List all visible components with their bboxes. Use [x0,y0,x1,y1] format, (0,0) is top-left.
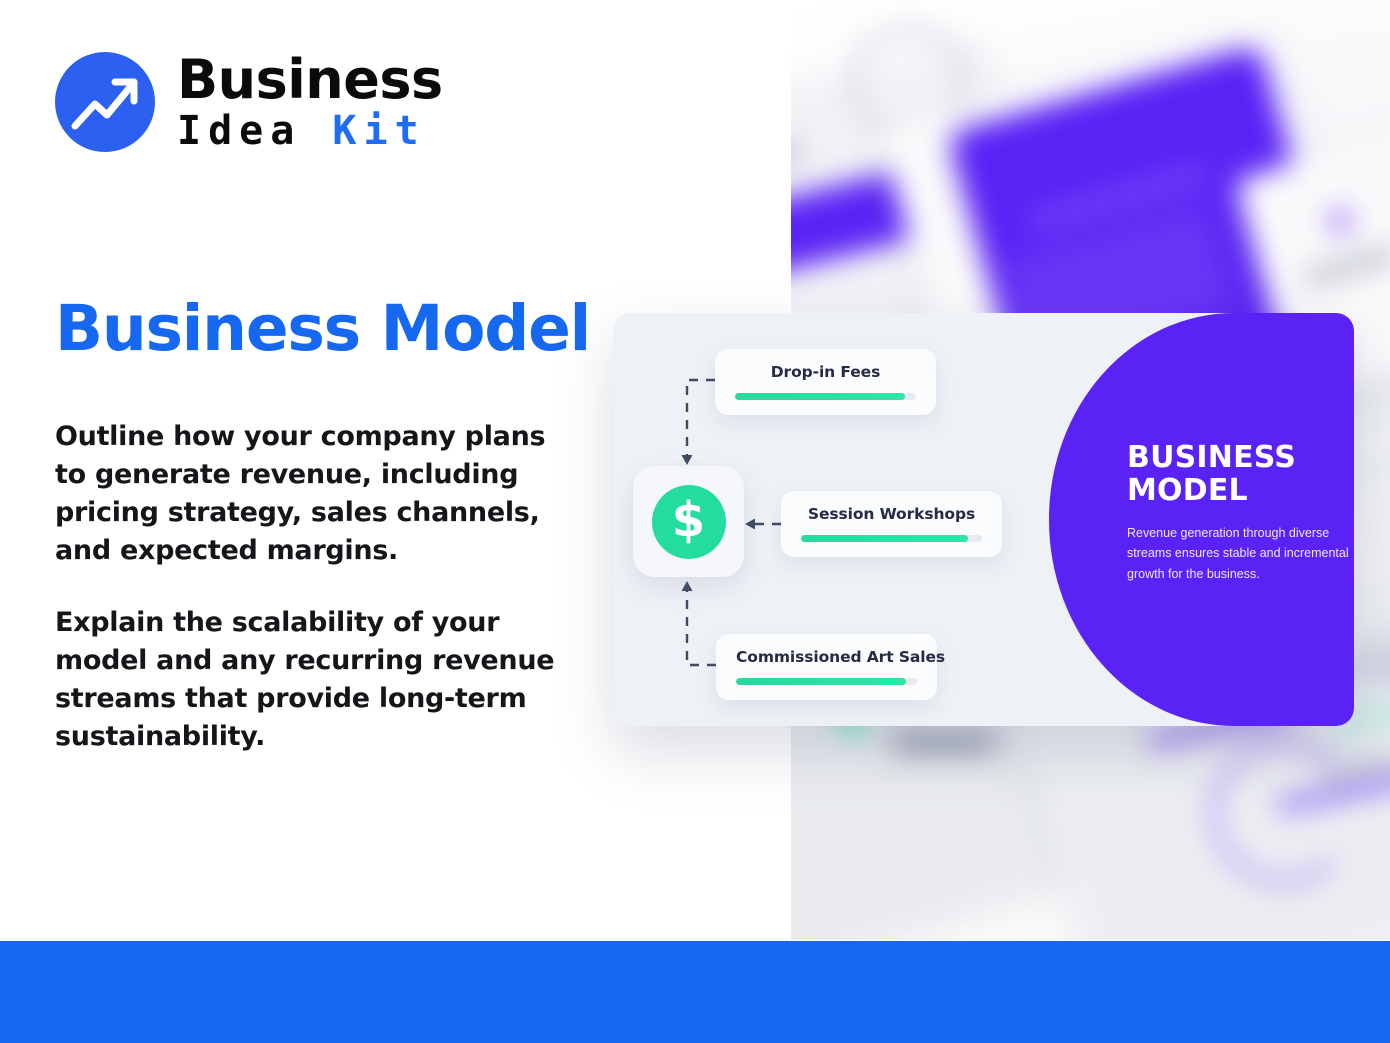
purple-panel: BUSINESS MODEL Revenue generation throug… [1049,313,1354,726]
footer-bar [0,941,1390,1043]
dollar-sign-icon: $ [652,485,726,559]
revenue-node[interactable]: Session Workshops [781,491,1002,557]
panel-description: Revenue generation through diverse strea… [1127,523,1354,584]
revenue-node-progress-track [736,678,917,685]
revenue-node-label: Commissioned Art Sales [736,648,917,666]
body-copy: Outline how your company plans to genera… [55,418,585,757]
page-title: Business Model [55,296,590,362]
revenue-node-progress-fill [736,678,906,685]
revenue-node[interactable]: Drop-in Fees [715,349,936,415]
bg-dot-mint-1 [1329,210,1351,232]
body-paragraph-2: Explain the scalability of your model an… [55,604,585,756]
revenue-node[interactable]: Commissioned Art Sales [716,634,937,700]
revenue-node-progress-track [735,393,916,400]
brand-name-line2: Idea Kit [177,111,443,151]
brand-logo: Business Idea Kit [55,52,443,152]
bg-grey-bar-3 [891,730,996,754]
brand-name-kit: Kit [332,108,425,154]
growth-arrow-icon [55,52,155,152]
revenue-node-progress-track [801,535,982,542]
slide-root: Business Idea Kit Business Model Outline… [0,0,1390,1043]
revenue-node-label: Drop-in Fees [735,363,916,381]
dollar-symbol: $ [672,496,705,544]
revenue-node-label: Session Workshops [801,505,982,523]
body-paragraph-1: Outline how your company plans to genera… [55,418,585,570]
revenue-node-progress-fill [801,535,968,542]
brand-wordmark: Business Idea Kit [177,53,443,151]
panel-title: BUSINESS MODEL [1127,441,1354,507]
revenue-hub: $ [633,466,744,577]
brand-name-idea: Idea [177,108,301,154]
brand-name-line1: Business [177,53,443,107]
revenue-node-progress-fill [735,393,905,400]
